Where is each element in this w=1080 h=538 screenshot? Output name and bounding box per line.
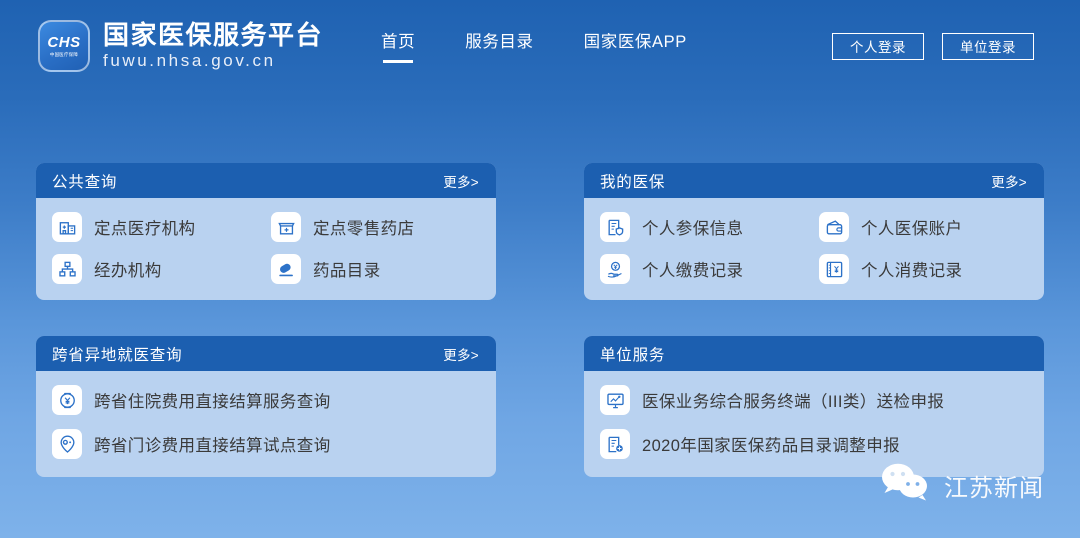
- site-header: CHS 中国医疗保障 国家医保服务平台 fuwu.nhsa.gov.cn 首页 …: [0, 0, 1080, 92]
- personal-login-button[interactable]: 个人登录: [832, 33, 924, 60]
- org-chart-icon: [52, 254, 82, 284]
- card-header: 公共查询 更多>: [36, 163, 496, 198]
- card-cross-province-query: 跨省异地就医查询 更多> 跨省住院费用直接结算服务查询: [36, 336, 496, 477]
- card-title: 公共查询: [52, 170, 117, 192]
- entry-label: 医保业务综合服务终端（III类）送检申报: [642, 388, 944, 412]
- document-add-icon: [600, 429, 630, 459]
- card-title: 我的医保: [600, 170, 665, 192]
- entry-designated-retail-pharmacy[interactable]: 定点零售药店: [271, 212, 480, 242]
- entry-terminal-inspection-declaration[interactable]: 医保业务综合服务终端（III类）送检申报: [600, 385, 1028, 415]
- payment-hand-icon: [600, 254, 630, 284]
- monitor-chart-icon: [600, 385, 630, 415]
- card-body: 定点医疗机构 定点零售药店: [36, 198, 496, 300]
- entry-handling-agency[interactable]: 经办机构: [52, 254, 261, 284]
- entry-inpatient-direct-settlement-query[interactable]: 跨省住院费用直接结算服务查询: [52, 385, 480, 415]
- ledger-yuan-icon: [819, 254, 849, 284]
- wallet-icon: [819, 212, 849, 242]
- entry-label: 个人缴费记录: [642, 257, 743, 281]
- logo-mark-text: CHS: [47, 35, 80, 50]
- card-more-link[interactable]: 更多>: [443, 344, 479, 364]
- card-header: 单位服务: [584, 336, 1044, 371]
- pill-icon: [271, 254, 301, 284]
- entry-drug-catalog-adjustment-declaration[interactable]: 2020年国家医保药品目录调整申报: [600, 429, 1028, 459]
- entry-personal-payment-record[interactable]: 个人缴费记录: [600, 254, 809, 284]
- organization-login-button[interactable]: 单位登录: [942, 33, 1034, 60]
- card-organization-service: 单位服务 医保业务综合服务终端（III类）送检申报: [584, 336, 1044, 477]
- chs-logo-icon: CHS 中国医疗保障: [38, 20, 90, 72]
- entry-label: 个人参保信息: [642, 215, 743, 239]
- auth-buttons: 个人登录 单位登录: [832, 33, 1034, 60]
- card-more-link[interactable]: 更多>: [443, 171, 479, 191]
- card-body: 个人参保信息 个人医保账户: [584, 198, 1044, 300]
- card-more-link[interactable]: 更多>: [991, 171, 1027, 191]
- entry-label: 个人消费记录: [861, 257, 962, 281]
- card-header: 我的医保 更多>: [584, 163, 1044, 198]
- entry-label: 经办机构: [94, 257, 162, 281]
- card-body: 跨省住院费用直接结算服务查询 跨省门诊费用直接结算试点查询: [36, 371, 496, 477]
- entry-label: 定点医疗机构: [94, 215, 195, 239]
- card-public-query: 公共查询 更多> 定点医疗机构: [36, 163, 496, 300]
- main-nav: 首页 服务目录 国家医保APP: [381, 28, 687, 65]
- entry-designated-medical-institution[interactable]: 定点医疗机构: [52, 212, 261, 242]
- yuan-circle-icon: [52, 385, 82, 415]
- brand-text: 国家医保服务平台 fuwu.nhsa.gov.cn: [103, 21, 323, 70]
- entry-outpatient-direct-settlement-pilot-query[interactable]: 跨省门诊费用直接结算试点查询: [52, 429, 480, 459]
- entry-label: 跨省门诊费用直接结算试点查询: [94, 432, 331, 456]
- entry-label: 个人医保账户: [861, 215, 962, 239]
- card-my-insurance: 我的医保 更多> 个人参保信息: [584, 163, 1044, 300]
- card-header: 跨省异地就医查询 更多>: [36, 336, 496, 371]
- entry-label: 药品目录: [313, 257, 381, 281]
- entry-personal-consumption-record[interactable]: 个人消费记录: [819, 254, 1028, 284]
- service-card-grid: 公共查询 更多> 定点医疗机构: [36, 163, 1044, 477]
- nav-item-service-catalog[interactable]: 服务目录: [465, 28, 533, 63]
- nav-item-app[interactable]: 国家医保APP: [584, 28, 687, 63]
- hospital-icon: [52, 212, 82, 242]
- brand-url: fuwu.nhsa.gov.cn: [103, 51, 323, 71]
- entry-drug-catalog[interactable]: 药品目录: [271, 254, 480, 284]
- pharmacy-icon: [271, 212, 301, 242]
- card-title: 单位服务: [600, 343, 665, 365]
- entry-label: 定点零售药店: [313, 215, 414, 239]
- location-pin-icon: [52, 429, 82, 459]
- document-shield-icon: [600, 212, 630, 242]
- nav-item-home[interactable]: 首页: [381, 28, 415, 63]
- brand[interactable]: CHS 中国医疗保障 国家医保服务平台 fuwu.nhsa.gov.cn: [38, 20, 323, 72]
- entry-label: 2020年国家医保药品目录调整申报: [642, 432, 900, 456]
- logo-sub-text: 中国医疗保障: [50, 53, 78, 57]
- card-title: 跨省异地就医查询: [52, 343, 182, 365]
- card-body: 医保业务综合服务终端（III类）送检申报 2020年国家医保药品目录调整申报: [584, 371, 1044, 477]
- entry-label: 跨省住院费用直接结算服务查询: [94, 388, 331, 412]
- page-title: 国家医保服务平台: [103, 21, 323, 50]
- entry-personal-insurance-info[interactable]: 个人参保信息: [600, 212, 809, 242]
- entry-personal-insurance-account[interactable]: 个人医保账户: [819, 212, 1028, 242]
